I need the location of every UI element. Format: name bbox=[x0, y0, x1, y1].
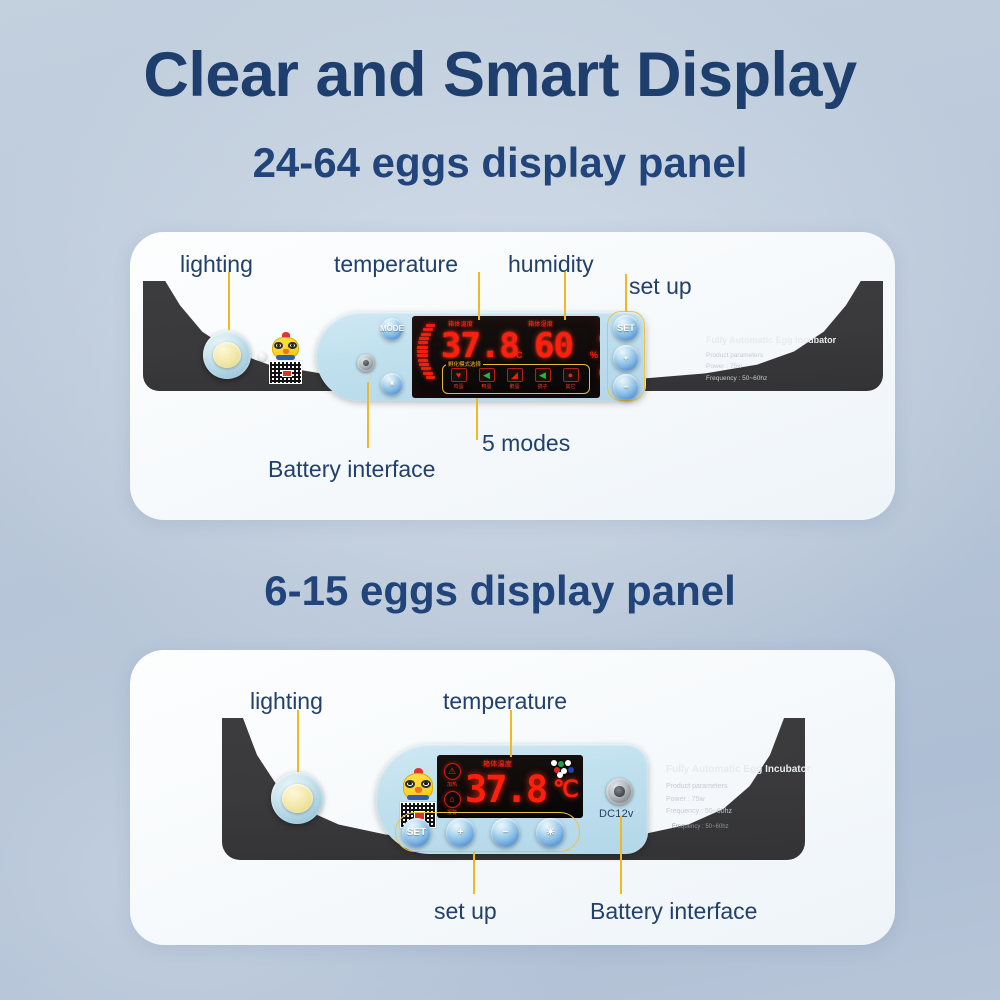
temperature-unit: ℃ bbox=[553, 777, 579, 803]
callout-temperature: temperature bbox=[334, 253, 458, 276]
led-display-panel-2: 箱体温度 37.8 ℃ ⚠ 加热 ⌂ 报警 bbox=[437, 755, 583, 818]
leader-humidity bbox=[564, 272, 566, 320]
bell-icon: ⌂ bbox=[444, 791, 461, 808]
mode-glyph: ♥ bbox=[456, 371, 461, 380]
chick-beak bbox=[415, 787, 422, 792]
leader-lighting bbox=[297, 710, 299, 772]
callout-lighting: lighting bbox=[250, 690, 323, 713]
plus-button[interactable]: + bbox=[613, 345, 639, 371]
callout-lighting: lighting bbox=[180, 253, 253, 276]
mode-glyph: ◢ bbox=[511, 371, 518, 380]
led-display-panel-1: 箱体温度 箱体湿度 37.8 C 60 % ♥鸡蛋◀鸭蛋◢鹅蛋◀鸽子●其它 孵化… bbox=[412, 316, 600, 398]
alarm-indicator: ⌂ 报警 bbox=[594, 364, 600, 389]
mode-option-2[interactable]: ◀鸭蛋 bbox=[474, 368, 499, 390]
mode-option-3[interactable]: ◢鹅蛋 bbox=[502, 368, 527, 390]
leader-set-up bbox=[625, 274, 627, 312]
qr-code-icon bbox=[269, 361, 301, 384]
humidity-value: 60 bbox=[534, 329, 573, 363]
mode-strip-title-cn: 孵化模式选择 bbox=[446, 360, 483, 368]
mode-selector-strip[interactable]: ♥鸡蛋◀鸭蛋◢鹅蛋◀鸽子●其它 bbox=[442, 364, 590, 394]
chick-icon bbox=[268, 332, 303, 361]
product-title: Fully Automatic Egg Incubator bbox=[706, 335, 836, 345]
product-line: Product parameters bbox=[666, 781, 811, 794]
mode-label-cn: 其它 bbox=[558, 383, 583, 390]
subtitle-panel-2: 6-15 eggs display panel bbox=[0, 570, 1000, 612]
heating-indicator: ⚠ 加热 bbox=[594, 330, 600, 355]
mode-label-cn: 鸽子 bbox=[530, 383, 555, 390]
bird-silhouette-icon: ◀ bbox=[535, 368, 551, 382]
lighting-knob-inner bbox=[213, 342, 241, 368]
page-title: Clear and Smart Display bbox=[0, 44, 1000, 107]
callout-5-modes: 5 modes bbox=[482, 432, 570, 455]
flame-icon: ⚠ bbox=[599, 330, 601, 347]
leader-set-up bbox=[473, 852, 475, 894]
mode-glyph: ◀ bbox=[483, 371, 490, 380]
callout-battery-interface: Battery interface bbox=[268, 458, 435, 481]
bird-silhouette-icon: ◀ bbox=[479, 368, 495, 382]
leader-battery bbox=[367, 382, 369, 448]
chick-collar bbox=[407, 795, 429, 800]
bird-silhouette-icon: ◢ bbox=[507, 368, 523, 382]
subtitle-panel-1: 24-64 eggs display panel bbox=[0, 142, 1000, 184]
arc-bargraph-icon bbox=[417, 324, 439, 380]
dc-jack-label: DC12v bbox=[349, 374, 371, 381]
plus-button[interactable]: + bbox=[446, 818, 475, 847]
set-button[interactable]: SET bbox=[402, 818, 431, 847]
mode-glyph: ● bbox=[568, 371, 573, 380]
dc-jack-label: DC12v bbox=[599, 808, 634, 820]
callout-set-up: set up bbox=[629, 275, 692, 298]
product-line-faint: Frequency : 50~60hz bbox=[672, 824, 811, 830]
lighting-knob[interactable] bbox=[203, 331, 251, 379]
mode-glyph: ◀ bbox=[539, 371, 546, 380]
dc-power-jack[interactable] bbox=[357, 354, 375, 372]
light-button[interactable]: ☀ bbox=[536, 818, 565, 847]
leader-battery bbox=[620, 816, 622, 894]
lighting-knob[interactable] bbox=[271, 772, 323, 824]
light-button[interactable]: ☀ bbox=[381, 373, 403, 395]
set-button[interactable]: SET bbox=[613, 315, 639, 341]
temperature-unit: C bbox=[516, 350, 523, 360]
mode-label-cn: 鸭蛋 bbox=[474, 383, 499, 390]
chick-collar bbox=[276, 355, 296, 360]
bird-silhouette-icon: ● bbox=[563, 368, 579, 382]
mode-label-cn: 鸡蛋 bbox=[446, 383, 471, 390]
dc-power-jack[interactable] bbox=[606, 778, 633, 805]
leader-modes bbox=[476, 398, 478, 440]
mode-label-cn: 鹅蛋 bbox=[502, 383, 527, 390]
rgb-indicator-cluster-icon bbox=[551, 760, 577, 777]
temperature-value: 37.8 bbox=[441, 329, 519, 363]
chick-icon bbox=[398, 768, 438, 802]
chick-beak bbox=[283, 349, 289, 354]
bird-silhouette-icon: ♥ bbox=[451, 368, 467, 382]
callout-set-up: set up bbox=[434, 900, 497, 923]
indicator-dot bbox=[258, 352, 267, 361]
callout-battery-interface: Battery interface bbox=[590, 900, 757, 923]
callout-temperature: temperature bbox=[443, 690, 567, 713]
product-line: Frequency : 50~60hz bbox=[666, 806, 811, 819]
minus-button[interactable]: − bbox=[613, 374, 639, 400]
flame-icon: ⚠ bbox=[444, 763, 461, 780]
product-info-panel-2: Fully Automatic Egg Incubator Product pa… bbox=[666, 764, 811, 830]
mode-option-4[interactable]: ◀鸽子 bbox=[530, 368, 555, 390]
chick-mascot-qr bbox=[268, 332, 303, 384]
heating-indicator: ⚠ 加热 bbox=[439, 763, 465, 788]
mode-button[interactable]: MODE bbox=[381, 318, 403, 340]
leader-temperature bbox=[510, 710, 512, 757]
product-line: Power : 75w bbox=[706, 361, 836, 372]
product-line: Product parameters bbox=[706, 350, 836, 361]
callout-humidity: humidity bbox=[508, 253, 594, 276]
leader-temperature bbox=[478, 272, 480, 320]
leader-lighting bbox=[228, 272, 230, 330]
product-info-panel-1: Fully Automatic Egg Incubator Product pa… bbox=[706, 335, 836, 384]
minus-button[interactable]: − bbox=[491, 818, 520, 847]
product-line: Frequency : 50~60hz bbox=[706, 373, 836, 384]
lighting-knob-inner bbox=[282, 784, 313, 813]
temperature-value: 37.8 bbox=[465, 771, 546, 808]
mode-option-1[interactable]: ♥鸡蛋 bbox=[446, 368, 471, 390]
product-line: Power : 75w bbox=[666, 794, 811, 807]
mode-option-5[interactable]: ●其它 bbox=[558, 368, 583, 390]
bell-icon: ⌂ bbox=[599, 364, 601, 381]
product-title: Fully Automatic Egg Incubator bbox=[666, 764, 811, 775]
